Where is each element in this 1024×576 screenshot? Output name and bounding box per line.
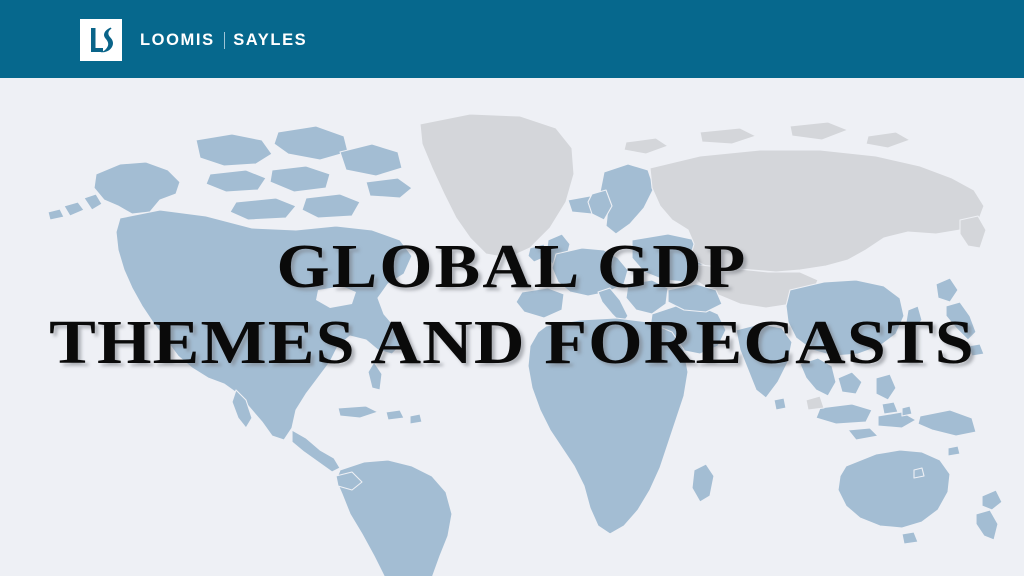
- header-bar: LOOMIS SAYLES: [0, 0, 1024, 78]
- brand-wordmark: LOOMIS SAYLES: [140, 31, 307, 50]
- presentation-slide: .land { fill: #a3bdd3; stroke: #eef0f5; …: [0, 0, 1024, 576]
- loomis-sayles-ls-monogram-icon: [80, 19, 122, 61]
- wordmark-divider: [224, 32, 226, 49]
- brand-lockup[interactable]: LOOMIS SAYLES: [80, 18, 307, 62]
- wordmark-sayles: SAYLES: [233, 31, 307, 50]
- world-map-graphic: .land { fill: #a3bdd3; stroke: #eef0f5; …: [0, 78, 1024, 576]
- wordmark-loomis: LOOMIS: [140, 31, 215, 50]
